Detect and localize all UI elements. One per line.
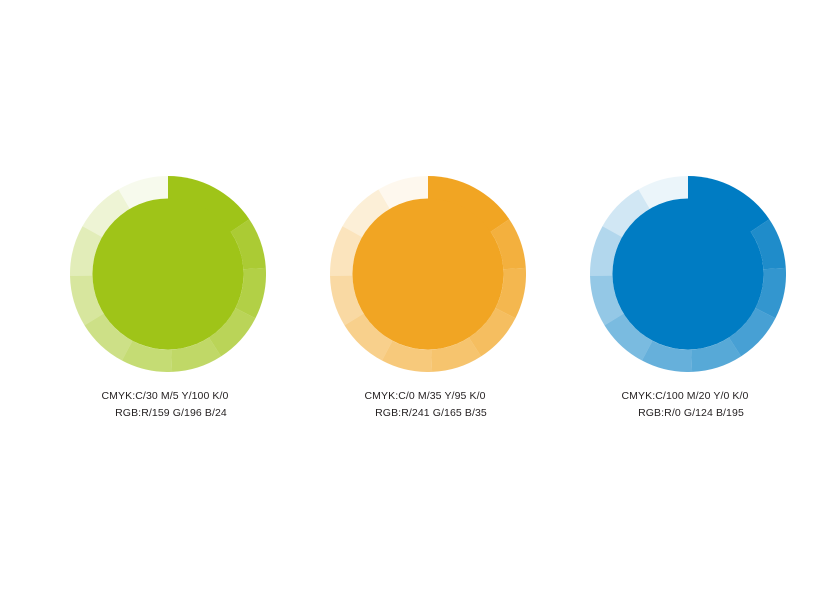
swatch-caption-green: CMYK:C/30 M/5 Y/100 K/0RGB:R/159 G/196 B… xyxy=(38,388,298,422)
swatch-caption-blue: CMYK:C/100 M/20 Y/0 K/0RGB:R/0 G/124 B/1… xyxy=(558,388,818,422)
color-swatch-orange: CMYK:C/0 M/35 Y/95 K/0RGB:R/241 G/165 B/… xyxy=(298,176,558,422)
color-palette-page: CMYK:C/30 M/5 Y/100 K/0RGB:R/159 G/196 B… xyxy=(0,0,838,597)
inner-disc xyxy=(92,198,243,349)
color-wheel-green xyxy=(70,176,266,372)
inner-disc xyxy=(612,198,763,349)
cmyk-value: CMYK:C/100 M/20 Y/0 K/0 xyxy=(558,388,818,405)
cmyk-value: CMYK:C/30 M/5 Y/100 K/0 xyxy=(38,388,298,405)
color-swatch-blue: CMYK:C/100 M/20 Y/0 K/0RGB:R/0 G/124 B/1… xyxy=(558,176,818,422)
color-wheel-orange xyxy=(330,176,526,372)
swatch-row: CMYK:C/30 M/5 Y/100 K/0RGB:R/159 G/196 B… xyxy=(0,0,838,597)
color-swatch-green: CMYK:C/30 M/5 Y/100 K/0RGB:R/159 G/196 B… xyxy=(38,176,298,422)
rgb-value: RGB:R/0 G/124 B/195 xyxy=(558,405,818,422)
rgb-value: RGB:R/241 G/165 B/35 xyxy=(298,405,558,422)
cmyk-value: CMYK:C/0 M/35 Y/95 K/0 xyxy=(298,388,558,405)
inner-disc xyxy=(352,198,503,349)
color-wheel-blue xyxy=(590,176,786,372)
rgb-value: RGB:R/159 G/196 B/24 xyxy=(38,405,298,422)
swatch-caption-orange: CMYK:C/0 M/35 Y/95 K/0RGB:R/241 G/165 B/… xyxy=(298,388,558,422)
